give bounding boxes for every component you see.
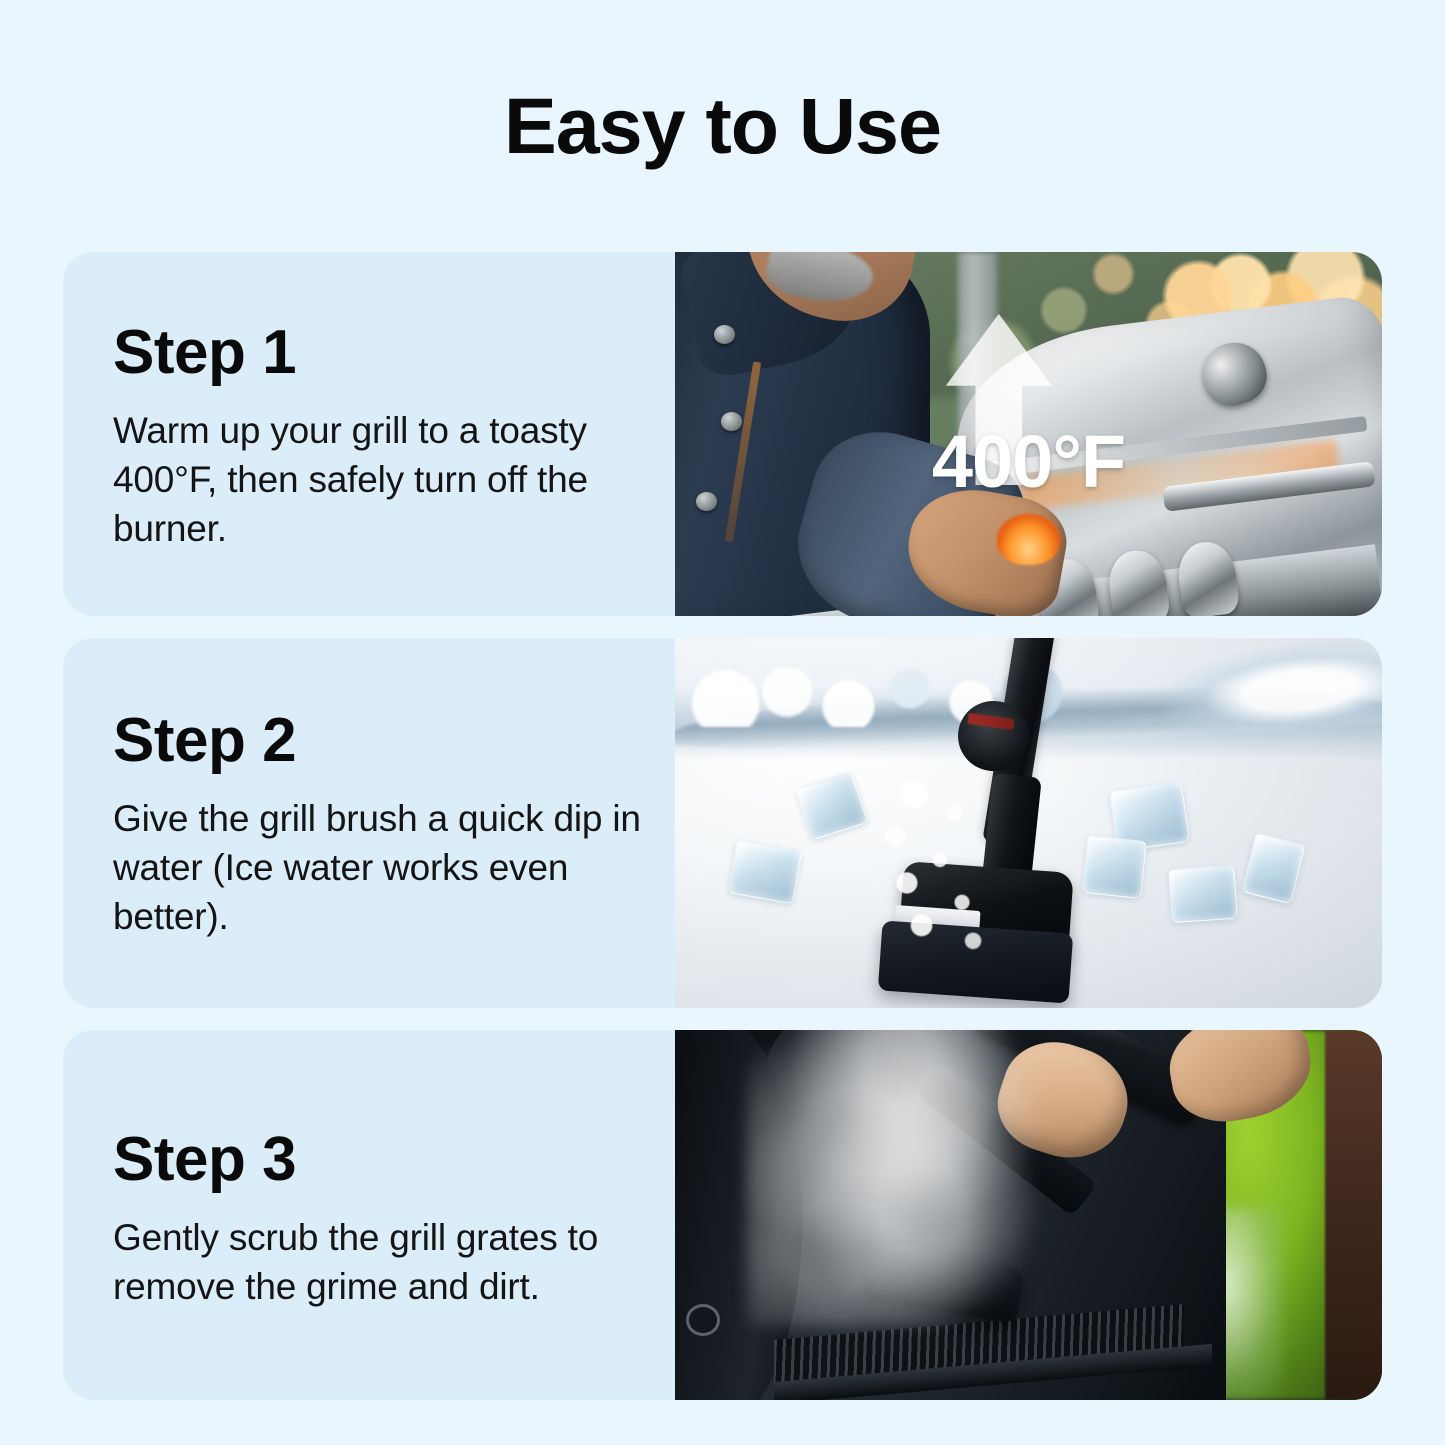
step-body-3: Gently scrub the grill grates to remove …	[113, 1214, 653, 1312]
ice-cube	[1168, 865, 1237, 923]
step-heading-2: Step 2	[113, 708, 653, 773]
step-text-block-1: Step 1 Warm up your grill to a toasty 40…	[63, 252, 675, 616]
air-bubbles	[859, 771, 1043, 963]
step-card-2: Step 2 Give the grill brush a quick dip …	[63, 638, 1382, 1008]
ice-cube	[727, 840, 801, 904]
grill-knob	[1175, 540, 1241, 616]
step-body-2: Give the grill brush a quick dip in wate…	[113, 795, 653, 941]
ice-cube	[1241, 832, 1306, 904]
grill-cover-strap	[1325, 1030, 1382, 1400]
infographic-page: Easy to Use Step 1 Warm up your grill to…	[0, 0, 1445, 1445]
ice-cube	[795, 771, 867, 840]
step-photo-2	[675, 638, 1382, 1008]
grill-knob	[1105, 548, 1171, 616]
step-heading-3: Step 3	[113, 1127, 653, 1192]
step-body-1: Warm up your grill to a toasty 400°F, th…	[113, 407, 653, 553]
step-card-3: Step 3 Gently scrub the grill grates to …	[63, 1030, 1382, 1400]
burner-flame	[997, 514, 1061, 565]
temperature-overlay-label: 400°F	[675, 419, 1382, 504]
step-photo-1: 400°F	[675, 252, 1382, 616]
jacket-button	[714, 325, 735, 344]
step-heading-1: Step 1	[113, 320, 653, 385]
grill-lid-knob	[686, 1304, 720, 1336]
step-photo-3	[675, 1030, 1382, 1400]
water-foam	[682, 668, 1120, 727]
page-title: Easy to Use	[0, 86, 1445, 165]
step-text-block-2: Step 2 Give the grill brush a quick dip …	[63, 638, 675, 1008]
step-card-1: Step 1 Warm up your grill to a toasty 40…	[63, 252, 1382, 616]
steam-cloud	[746, 1030, 1114, 1326]
step-text-block-3: Step 3 Gently scrub the grill grates to …	[63, 1030, 675, 1400]
ice-cube	[1082, 835, 1146, 898]
